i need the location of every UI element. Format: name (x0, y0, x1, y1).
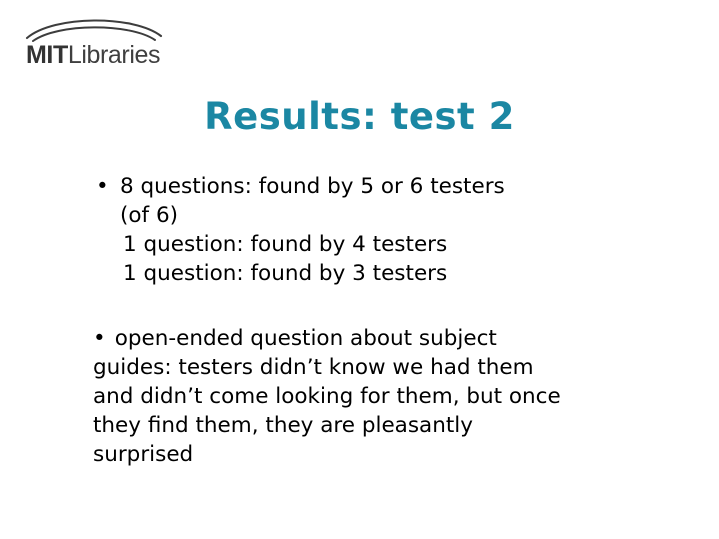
logo-wordmark-libraries: Libraries (68, 41, 160, 69)
bullet-block-one: • 8 questions: found by 5 or 6 testers (… (93, 172, 653, 288)
bullet-block-two: •open-ended question about subject guide… (93, 324, 673, 469)
paragraph-line-3: and didn’t come looking for them, but on… (93, 382, 673, 411)
bullet-line-2: (of 6) (93, 201, 653, 230)
bullet-dot-icon: • (93, 326, 106, 351)
paragraph-line-1-text: open-ended question about subject (115, 326, 497, 351)
bullet-line-1-text: 8 questions: found by 5 or 6 testers (120, 174, 505, 199)
page-title: Results: test 2 (0, 95, 719, 139)
bullet-line-1: • 8 questions: found by 5 or 6 testers (93, 172, 653, 201)
paragraph-line-2: guides: testers didn’t know we had them (93, 353, 673, 382)
paragraph-line-5: surprised (93, 440, 673, 469)
paragraph-line-4: they find them, they are pleasantly (93, 411, 673, 440)
bullet-line-3: 1 question: found by 4 testers (93, 230, 653, 259)
logo-wordmark-mit: MIT (26, 41, 68, 69)
logo-wordmark: MITLibraries (26, 40, 160, 70)
bullet-line-4: 1 question: found by 3 testers (93, 259, 653, 288)
paragraph-line-1: •open-ended question about subject (93, 324, 673, 353)
logo-arcs-icon (24, 12, 164, 42)
bullet-dot-icon: • (96, 172, 109, 201)
slide-canvas: MITLibraries Results: test 2 • 8 questio… (0, 0, 719, 539)
mit-libraries-logo: MITLibraries (24, 12, 164, 74)
